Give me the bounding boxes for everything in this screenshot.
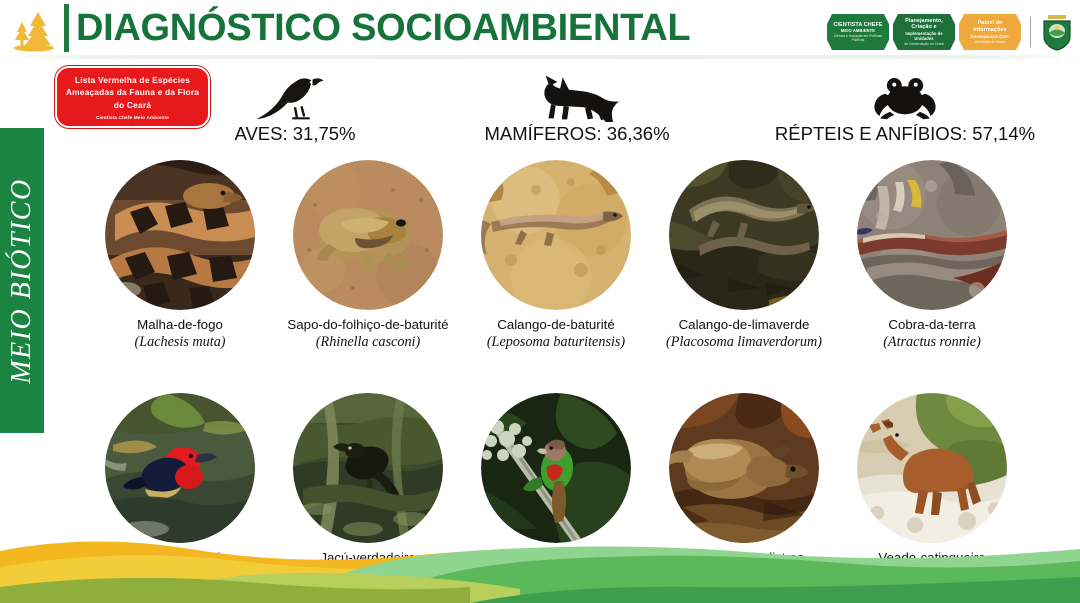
group-label-aves: AVES: 31,75%: [195, 123, 395, 145]
parakeet-photo: [481, 393, 631, 543]
species-cell: Malha-de-fogo (Lachesis muta): [86, 160, 274, 351]
common-name: Calango-de-baturité: [497, 317, 615, 332]
scientific-name: (Placosoma limaverdorum): [650, 334, 838, 352]
snake-on-ground-photo: [857, 160, 1007, 310]
species-caption: Calango-de-baturité (Leposoma baturitens…: [462, 317, 650, 351]
common-name: Malha-de-fogo: [137, 317, 223, 332]
species-caption: Malha-de-fogo (Lachesis muta): [86, 317, 274, 351]
slide-header: DIAGNÓSTICO SOCIOAMBIENTAL CIENTISTA CHE…: [0, 0, 1080, 58]
logo-line-1: CIENTISTA CHEFE: [833, 22, 882, 29]
scientific-name: (Leposoma baturitensis): [462, 334, 650, 352]
bird-silhouette-icon: [195, 72, 395, 122]
header-logo-group: CIENTISTA CHEFE MEIO AMBIENTE Ciência e …: [827, 12, 1074, 52]
logo-line-2: Implementação de Unidades: [897, 31, 951, 41]
header-divider: [0, 55, 1080, 59]
common-name: Sapo-do-folhiço-de-baturité: [287, 317, 448, 332]
brasao-ceara-icon: [1040, 13, 1074, 51]
group-heading-aves: AVES: 31,75%: [195, 72, 395, 145]
sidebar-label: MEIO BIÓTICO: [6, 178, 38, 383]
manakin-bird-photo: [105, 393, 255, 543]
title-accent-bar: [64, 4, 69, 52]
common-name: Cobra-da-terra: [888, 317, 975, 332]
badge-subtitle: Cientista Chefe Meio Ambiente: [96, 115, 169, 120]
logo-line-1: Planejamento, Criação e: [897, 18, 951, 32]
sidebar-meio-biotico: MEIO BIÓTICO: [0, 128, 44, 433]
logo-line-1: Painel de Informações: [963, 20, 1017, 34]
logo-line-3: Ciência e Inovação em Políticas Públicas: [831, 34, 885, 42]
scientific-name: (Atractus ronnie): [838, 334, 1026, 352]
tree-logo-icon: [8, 6, 60, 52]
fox-silhouette-icon: [462, 72, 692, 122]
snake-bushmaster-photo: [105, 160, 255, 310]
logo-line-2: Geoespaciais (IDE-: [971, 34, 1010, 39]
badge-title: Lista Vermelha de Espécies Ameaçadas da …: [63, 74, 202, 111]
group-label-mamiferos: MAMÍFEROS: 36,36%: [462, 123, 692, 145]
logo-cientista-chefe: CIENTISTA CHEFE MEIO AMBIENTE Ciência e …: [827, 14, 889, 50]
page-title: DIAGNÓSTICO SOCIOAMBIENTAL: [76, 3, 690, 53]
logo-line-3: Ambiental do Ceará: [975, 40, 1005, 44]
guan-bird-photo: [293, 393, 443, 543]
scientific-name: (Rhinella casconi): [274, 334, 462, 352]
group-heading-repteis-anfibios: RÉPTEIS E ANFÍBIOS: 57,14%: [755, 72, 1055, 145]
logo-planejamento-ucs: Planejamento, Criação e Implementação de…: [893, 14, 955, 50]
deer-photo: [857, 393, 1007, 543]
opossum-photo: [669, 393, 819, 543]
species-cell: Calango-de-limaverde (Placosoma limaverd…: [650, 160, 838, 351]
species-cell: Cobra-da-terra (Atractus ronnie): [838, 160, 1026, 351]
slide-root: DIAGNÓSTICO SOCIOAMBIENTAL CIENTISTA CHE…: [0, 0, 1080, 603]
toad-on-sand-photo: [293, 160, 443, 310]
logo-line-2: MEIO AMBIENTE: [841, 28, 875, 33]
scientific-name: (Lachesis muta): [86, 334, 274, 352]
lista-vermelha-badge: Lista Vermelha de Espécies Ameaçadas da …: [55, 66, 210, 128]
species-caption: Cobra-da-terra (Atractus ronnie): [838, 317, 1026, 351]
group-label-repteis: RÉPTEIS E ANFÍBIOS: 57,14%: [755, 123, 1055, 145]
common-name: Calango-de-limaverde: [679, 317, 810, 332]
lizard-on-leaves-photo: [669, 160, 819, 310]
lizard-on-rock-photo: [481, 160, 631, 310]
frog-silhouette-icon: [755, 72, 1055, 122]
group-heading-mamiferos: MAMÍFEROS: 36,36%: [462, 72, 692, 145]
species-caption: Calango-de-limaverde (Placosoma limaverd…: [650, 317, 838, 351]
species-cell: Sapo-do-folhiço-de-baturité (Rhinella ca…: [274, 160, 462, 351]
logo-line-3: de Conservação no Ceará: [904, 42, 944, 46]
logo-painel-geoespacial: Painel de Informações Geoespaciais (IDE-…: [959, 14, 1021, 50]
bottom-wave-decor: [0, 527, 1080, 603]
species-cell: Calango-de-baturité (Leposoma baturitens…: [462, 160, 650, 351]
logo-divider: [1030, 17, 1031, 47]
species-caption: Sapo-do-folhiço-de-baturité (Rhinella ca…: [274, 317, 462, 351]
